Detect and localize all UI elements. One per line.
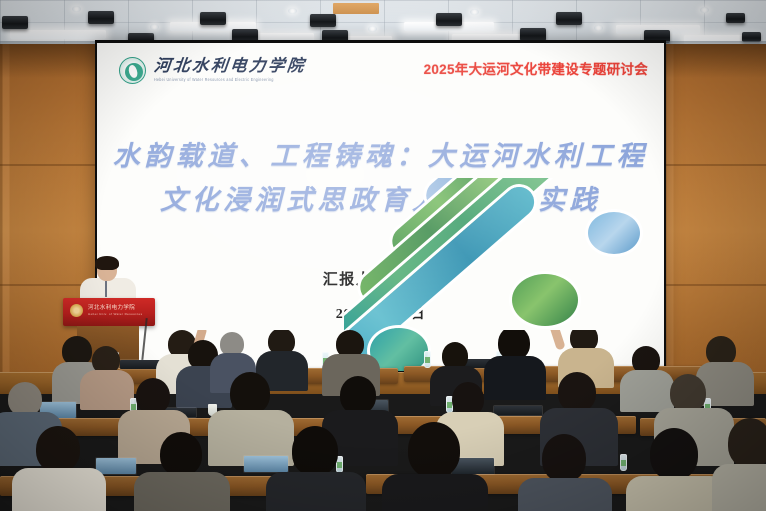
audience-head <box>136 378 170 414</box>
ceiling-spotlight <box>2 16 28 29</box>
university-name-cn: 河北水利电力学院 <box>153 58 307 75</box>
audience-torso <box>484 356 546 400</box>
audience-torso <box>712 464 766 511</box>
ceiling-downlight <box>288 8 297 14</box>
conference-photo-scene: 河北水利电力学院 Hebei University of Water Resou… <box>0 0 766 511</box>
ceiling-downlight <box>368 26 377 32</box>
laptop-screen <box>244 456 288 472</box>
university-emblem-icon <box>119 57 146 84</box>
audience-head <box>670 374 706 412</box>
audience-head <box>408 422 460 478</box>
podium-label-cn: 河北水利电力学院 <box>88 305 135 311</box>
podium-front-panel: 河北水利电力学院 Hebei Univ. of Water Resources <box>63 298 155 326</box>
desk-nameplate <box>120 360 160 369</box>
projection-screen: 河北水利电力学院 Hebei University of Water Resou… <box>95 40 666 374</box>
audience-torso <box>80 370 134 410</box>
slide-title-line-1: 水韵载道、工程铸魂：大运河水利工程 <box>97 135 664 179</box>
ceiling-spotlight <box>726 13 745 23</box>
audience-torso <box>266 472 366 511</box>
audience-head <box>650 428 698 480</box>
ceiling-amber-panel <box>333 3 379 14</box>
audience-head <box>36 426 80 472</box>
conference-banner: 2025年大运河文化带建设专题研讨会 <box>424 58 648 78</box>
audience-head <box>8 382 42 416</box>
audience-torso <box>12 468 106 511</box>
ceiling-panel-light <box>10 30 106 39</box>
wall-seam <box>664 284 766 286</box>
audience-torso <box>626 476 726 511</box>
audience-torso <box>620 370 674 412</box>
university-logo-text: 河北水利电力学院 Hebei University of Water Resou… <box>154 58 306 82</box>
audience-head <box>230 372 270 414</box>
university-name-en: Hebei University of Water Resources and … <box>154 79 306 83</box>
water-bottle <box>620 454 627 471</box>
ceiling-spotlight <box>436 13 462 26</box>
ceiling-spotlight <box>200 12 226 25</box>
presentation-slide: 河北水利电力学院 Hebei University of Water Resou… <box>97 43 664 371</box>
collage-blob-farmland <box>512 274 578 326</box>
audience-head <box>452 382 484 416</box>
audience-torso <box>518 478 612 511</box>
ceiling-spotlight <box>310 14 336 27</box>
university-logo: 河北水利电力学院 Hebei University of Water Resou… <box>119 57 306 84</box>
audience-head <box>542 434 586 482</box>
ceiling-spotlight <box>556 12 582 25</box>
audience-head <box>160 432 202 476</box>
audience-torso <box>382 474 488 511</box>
podium-label: 河北水利电力学院 Hebei Univ. of Water Resources <box>88 304 150 317</box>
ceiling-downlight <box>72 6 81 12</box>
audience-area <box>0 330 766 511</box>
laptop-screen <box>96 458 136 474</box>
podium-label-en: Hebei Univ. of Water Resources <box>88 312 150 317</box>
speaker-lanyard <box>105 281 107 297</box>
water-bottle <box>424 351 431 368</box>
ceiling-downlight <box>470 9 479 15</box>
slide-header: 河北水利电力学院 Hebei University of Water Resou… <box>97 43 664 99</box>
podium-emblem-icon <box>70 304 83 317</box>
wall-seam <box>664 164 766 166</box>
audience-head <box>292 426 338 476</box>
ceiling-spotlight <box>88 11 114 24</box>
wall-shadow <box>0 44 97 78</box>
wall-seam <box>0 164 97 166</box>
wall-shadow <box>664 44 766 78</box>
collage-blob-skyline <box>588 212 640 254</box>
ceiling-downlight <box>150 24 159 30</box>
audience-head <box>728 418 766 468</box>
raised-arm <box>547 330 565 351</box>
audience-head <box>340 376 376 414</box>
ceiling-downlight <box>700 7 709 13</box>
audience-head <box>558 372 596 412</box>
speaker-hair <box>95 256 119 270</box>
audience-torso <box>134 472 230 511</box>
desk-nameplate <box>494 406 542 415</box>
ceiling-downlight <box>594 25 603 31</box>
